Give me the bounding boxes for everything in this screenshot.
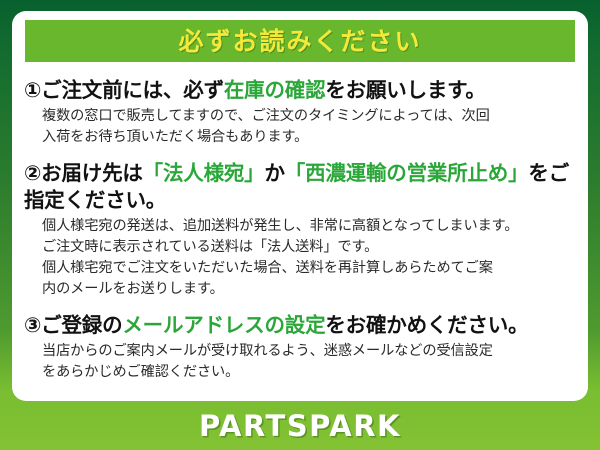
- notice-item-1-headline-part-1: ご注文前には、必ず: [41, 78, 224, 102]
- notice-item-3-body: 当店からのご案内メールが受け取れるよう、迷惑メールなどの受信設定 をあらかじめご…: [12, 338, 588, 383]
- notice-item-2-headline-highlight-1: 「法人様宛」: [143, 161, 265, 185]
- notice-item-2-number: ②: [24, 161, 41, 185]
- notice-item-3-number: ③: [24, 313, 41, 337]
- notice-item-3-headline-highlight: メールアドレスの設定: [122, 313, 325, 337]
- notice-item-2-headline-highlight-2: 「西濃運輸の営業所止め」: [285, 161, 529, 185]
- notice-item-1: ①ご注文前には、必ず在庫の確認をお願いします。 複数の窓口で販売してますので、ご…: [12, 77, 588, 148]
- brand-name: PARTSPARK: [199, 409, 401, 443]
- page-title: 必ずお読みください: [178, 29, 421, 54]
- notice-item-1-headline: ①ご注文前には、必ず在庫の確認をお願いします。: [12, 77, 588, 103]
- notice-item-1-number: ①: [24, 78, 41, 102]
- notice-item-1-body: 複数の窓口で販売してますので、ご注文のタイミングによっては、次回 入荷をお待ち頂…: [12, 103, 588, 148]
- notice-item-2-headline: ②お届け先は「法人様宛」か「西濃運輸の営業所止め」をご指定ください。: [12, 160, 588, 212]
- notice-item-2-headline-part-1: お届け先は: [41, 161, 143, 185]
- notice-item-3-headline: ③ご登録のメールアドレスの設定をお確かめください。: [12, 312, 588, 338]
- notice-item-1-headline-part-3: をお願いします。: [325, 78, 485, 102]
- notice-item-2-headline-part-3: か: [264, 161, 284, 185]
- notice-title-band: 必ずお読みください: [25, 20, 575, 62]
- notice-item-3: ③ご登録のメールアドレスの設定をお確かめください。 当店からのご案内メールが受け…: [12, 312, 588, 383]
- notice-panel: 必ずお読みください ①ご注文前には、必ず在庫の確認をお願いします。 複数の窓口で…: [12, 11, 588, 401]
- notice-item-2: ②お届け先は「法人様宛」か「西濃運輸の営業所止め」をご指定ください。 個人様宅宛…: [12, 160, 588, 300]
- notice-item-3-headline-part-1: ご登録の: [41, 313, 122, 337]
- notice-frame: 必ずお読みください ①ご注文前には、必ず在庫の確認をお願いします。 複数の窓口で…: [0, 0, 600, 450]
- notice-item-1-headline-highlight: 在庫の確認: [224, 78, 326, 102]
- brand-footer: PARTSPARK: [0, 402, 600, 450]
- notice-content: ①ご注文前には、必ず在庫の確認をお願いします。 複数の窓口で販売してますので、ご…: [12, 67, 588, 383]
- notice-item-2-body: 個人様宅宛の発送は、追加送料が発生し、非常に高額となってしまいます。 ご注文時に…: [12, 213, 588, 300]
- notice-item-3-headline-part-3: をお確かめください。: [325, 313, 528, 337]
